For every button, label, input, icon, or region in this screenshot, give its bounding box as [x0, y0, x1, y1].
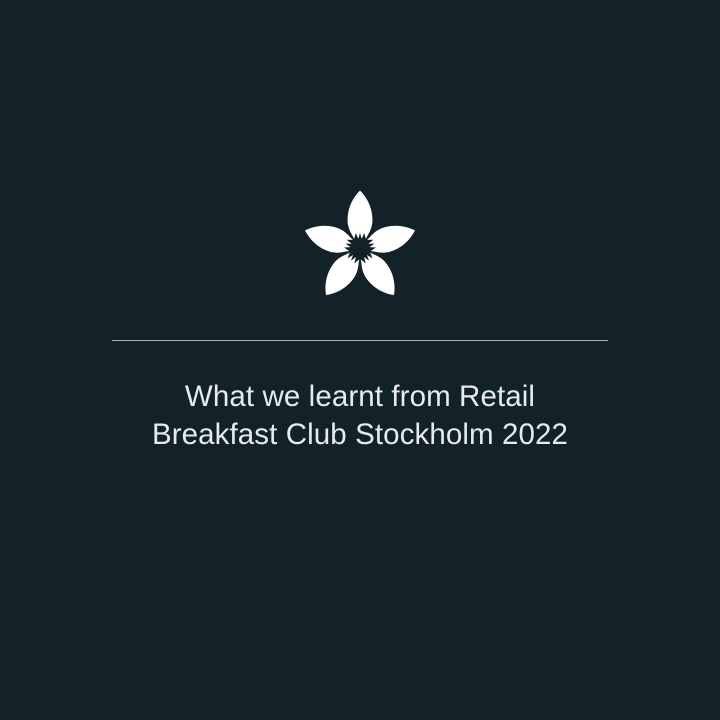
logo-container: [0, 186, 720, 306]
horizontal-rule: [112, 340, 608, 341]
five-petal-flower-logo-icon: [301, 186, 419, 306]
title-line-2: Breakfast Club Stockholm 2022: [60, 416, 660, 454]
title-line-1: What we learnt from Retail: [60, 378, 660, 416]
divider-container: [0, 340, 720, 341]
title-slide: What we learnt from Retail Breakfast Clu…: [0, 0, 720, 720]
slide-title: What we learnt from Retail Breakfast Clu…: [0, 378, 720, 453]
